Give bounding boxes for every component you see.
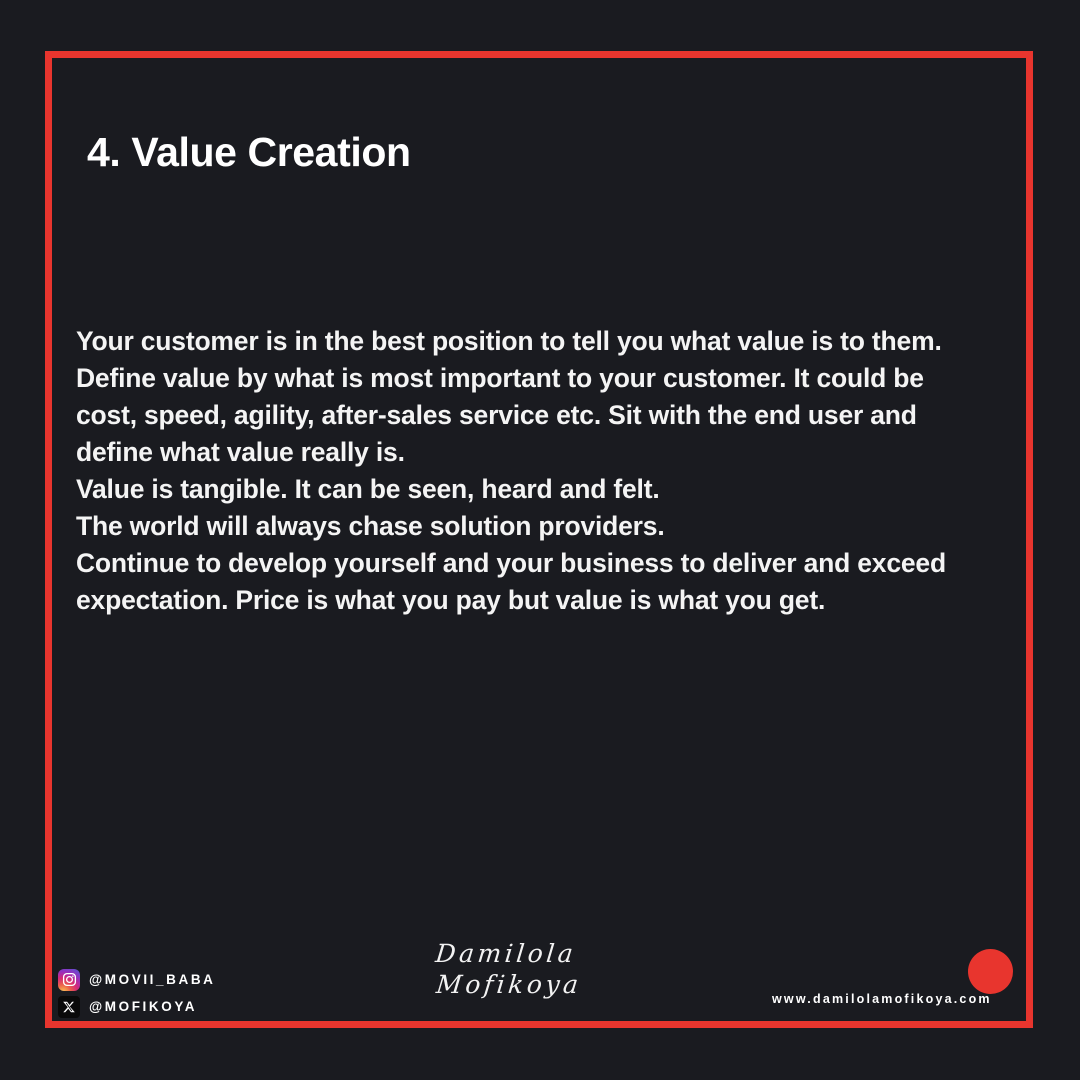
- x-twitter-icon[interactable]: [58, 996, 80, 1018]
- x-handle[interactable]: @MOFIKOYA: [89, 999, 197, 1014]
- website-url[interactable]: www.damilolamofikoya.com: [772, 992, 992, 1006]
- social-handles: @MOVII_BABA @MOFIKOYA: [58, 968, 216, 1018]
- signature: Damilola Mofikoya: [406, 938, 606, 1000]
- page-title: 4. Value Creation: [87, 129, 411, 176]
- instagram-handle[interactable]: @MOVII_BABA: [89, 972, 216, 987]
- slide-canvas: 4. Value Creation Your customer is in th…: [0, 0, 1080, 1080]
- social-row-instagram[interactable]: @MOVII_BABA: [58, 968, 216, 991]
- body-paragraph-3: The world will always chase solution pro…: [76, 508, 976, 545]
- signature-line-2: Mofikoya: [410, 969, 607, 1000]
- body-paragraph-4: Continue to develop yourself and your bu…: [76, 545, 976, 619]
- body-copy: Your customer is in the best position to…: [76, 323, 976, 619]
- body-paragraph-1: Your customer is in the best position to…: [76, 323, 976, 471]
- social-row-x[interactable]: @MOFIKOYA: [58, 995, 216, 1018]
- body-paragraph-2: Value is tangible. It can be seen, heard…: [76, 471, 976, 508]
- instagram-icon[interactable]: [58, 969, 80, 991]
- red-dot-accent: [968, 949, 1013, 994]
- signature-line-1: Damilola: [404, 938, 607, 969]
